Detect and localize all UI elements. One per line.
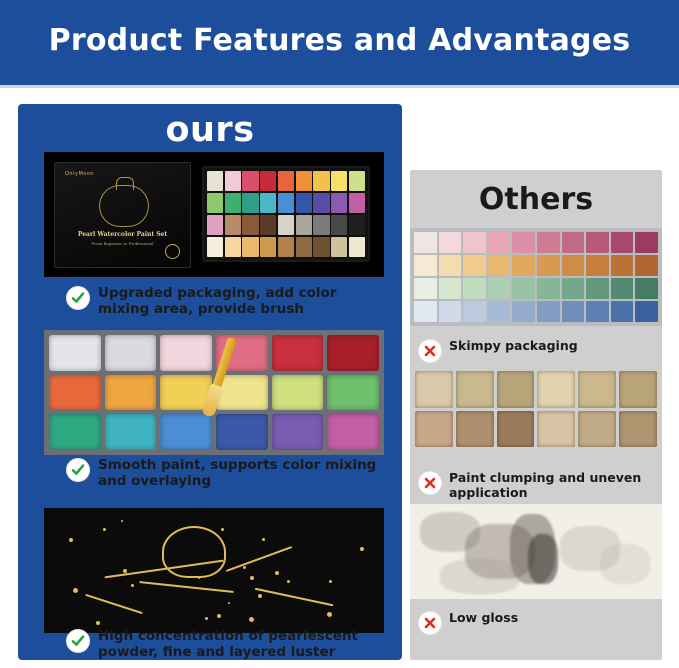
washed-paper-art — [410, 504, 662, 599]
ours-title: ours — [18, 110, 402, 150]
x-icon — [418, 611, 442, 635]
ours-paint-closeup-image — [44, 330, 384, 455]
ours-bullet-1: Upgraded packaging, add color mixing are… — [66, 285, 386, 317]
product-box-art: OnlyMoon Pearl Watercolor Paint Set From… — [54, 162, 191, 268]
box-badge-icon — [165, 244, 180, 259]
others-bullet-1: Skimpy packaging — [418, 338, 658, 363]
gold-artwork-art — [44, 508, 384, 633]
page-header: Product Features and Advantages — [0, 0, 679, 80]
others-packaging-image — [410, 228, 662, 326]
ours-bullet-2: Smooth paint, supports color mixing and … — [66, 457, 386, 489]
check-icon — [66, 286, 90, 310]
others-bullet-3-text: Low gloss — [449, 610, 518, 625]
box-title: Pearl Watercolor Paint Set — [55, 231, 190, 238]
others-low-gloss-image — [410, 504, 662, 599]
x-icon — [418, 339, 442, 363]
check-icon — [66, 458, 90, 482]
header-shadow — [0, 85, 679, 88]
page-title: Product Features and Advantages — [49, 23, 631, 58]
deer-logo-icon — [99, 185, 149, 227]
ours-bullet-1-text: Upgraded packaging, add color mixing are… — [98, 285, 386, 317]
others-bullet-3: Low gloss — [418, 610, 658, 635]
others-bullet-1-text: Skimpy packaging — [449, 338, 578, 353]
check-icon — [66, 629, 90, 653]
pastel-pans-art — [410, 228, 662, 326]
others-title: Others — [410, 182, 662, 217]
ours-product-packaging-image: OnlyMoon Pearl Watercolor Paint Set From… — [44, 152, 384, 277]
ours-bullet-2-text: Smooth paint, supports color mixing and … — [98, 457, 386, 489]
brand-label: OnlyMoon — [65, 171, 94, 177]
others-bullet-2-text: Paint clumping and uneven application — [449, 470, 658, 500]
others-clumping-image — [410, 366, 662, 452]
ours-bullet-3: High concentration of pearlescent powder… — [66, 628, 386, 660]
x-icon — [418, 471, 442, 495]
ours-artwork-image — [44, 508, 384, 633]
ours-bullet-3-text: High concentration of pearlescent powder… — [98, 628, 386, 660]
metallic-pans-art — [410, 366, 662, 452]
paint-tray-art — [202, 166, 370, 262]
others-bullet-2: Paint clumping and uneven application — [418, 470, 658, 500]
